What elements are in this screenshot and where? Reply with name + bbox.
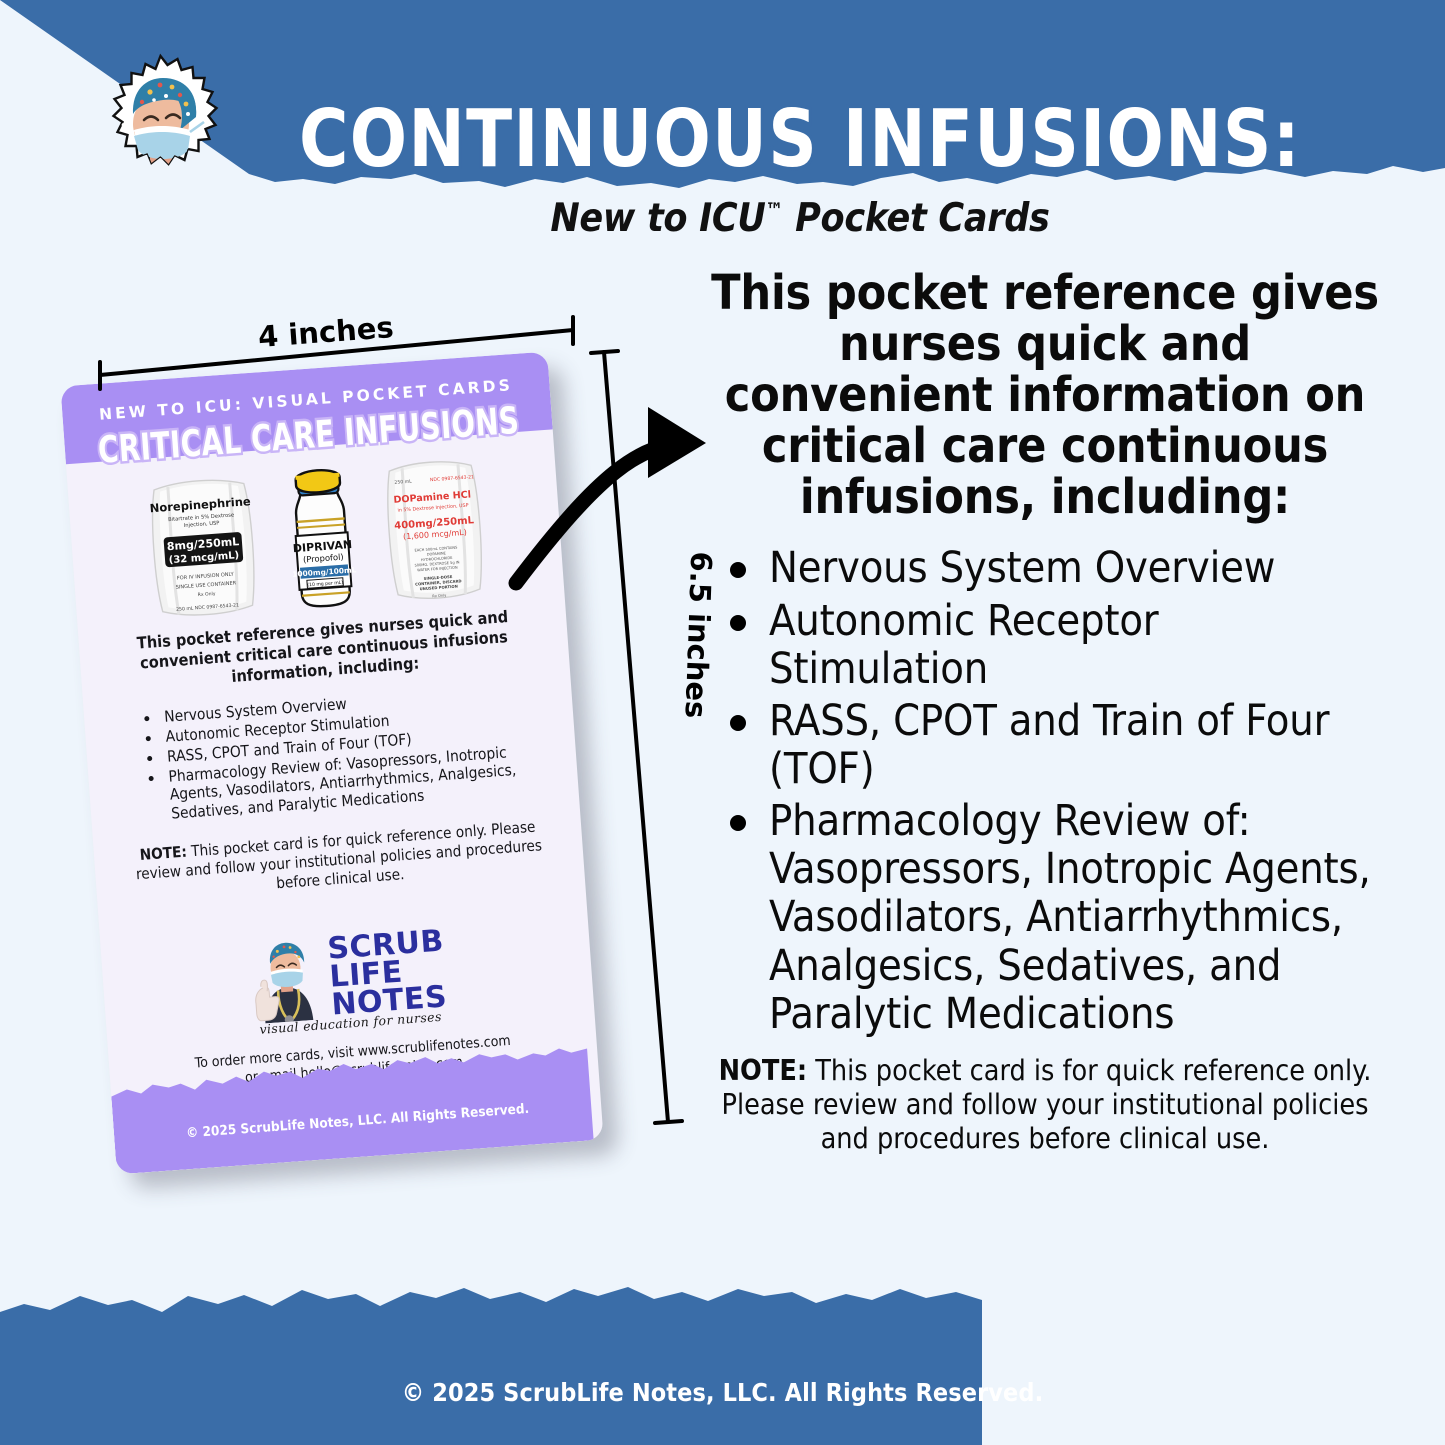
med-norepinephrine-bag: Norepinephrine Bitartrate in 5% Dextrose…	[137, 468, 270, 629]
panel-feature-list: Nervous System Overview Autonomic Recept…	[717, 544, 1385, 1038]
description-panel: This pocket reference gives nurses quick…	[705, 268, 1385, 1157]
page-title-art: CONTINUOUS INFUSIONS:	[295, 92, 1305, 188]
list-item: Pharmacology Review of: Vasopressors, In…	[717, 797, 1385, 1038]
page-title-text: CONTINUOUS INFUSIONS:	[299, 93, 1301, 185]
page-subtitle: New to ICU™ Pocket Cards	[250, 196, 1350, 241]
card-note: NOTE: This pocket card is for quick refe…	[117, 816, 560, 904]
list-item: Autonomic Receptor Stimulation	[717, 597, 1385, 693]
med-dopamine-bag: 250 mL NDC 0987-6543-21 DOPamine HCl in …	[374, 452, 495, 612]
med-diprivan-vial: DIPRIVAN (Propofol) 1000mg/100mL (10 mg …	[273, 461, 372, 620]
nurse-logo-icon	[246, 937, 324, 1024]
list-item: Nervous System Overview	[717, 544, 1385, 592]
logo-wordmark: SCRUB LIFE NOTES	[327, 928, 449, 1020]
card-bullet-list: Nervous System Overview Autonomic Recept…	[160, 681, 555, 824]
panel-note-text: This pocket card is for quick reference …	[721, 1054, 1371, 1155]
pocket-card-preview[interactable]: NEW TO ICU: VISUAL POCKET CARDS CRITICAL…	[60, 352, 603, 1175]
card-note-text: This pocket card is for quick reference …	[135, 818, 542, 892]
panel-note-label: NOTE:	[719, 1054, 808, 1087]
subtitle-tail: Pocket Cards	[783, 196, 1049, 241]
svg-text:Rx Only: Rx Only	[197, 591, 216, 598]
page-title: CONTINUOUS INFUSIONS:	[250, 92, 1350, 188]
card-note-label: NOTE:	[139, 843, 187, 864]
bottom-torn-band	[0, 1260, 1445, 1445]
subtitle-trademark: ™	[766, 198, 784, 222]
svg-text:250 mL: 250 mL	[394, 479, 412, 486]
panel-heading: This pocket reference gives nurses quick…	[705, 268, 1385, 522]
panel-note: NOTE: This pocket card is for quick refe…	[705, 1054, 1385, 1157]
height-dimension-line	[591, 351, 682, 1123]
nurse-avatar-badge	[68, 52, 253, 237]
card-medication-art: Norepinephrine Bitartrate in 5% Dextrose…	[67, 447, 564, 632]
card-body: This pocket reference gives nurses quick…	[102, 605, 560, 904]
subtitle-main: New to ICU	[550, 196, 765, 241]
page-footer-copyright: © 2025 ScrubLife Notes, LLC. All Rights …	[0, 1378, 1445, 1407]
list-item: RASS, CPOT and Train of Four (TOF)	[717, 697, 1385, 793]
card-footer-band: © 2025 ScrubLife Notes, LLC. All Rights …	[109, 1028, 604, 1175]
width-dimension-label: 4 inches	[257, 310, 395, 354]
